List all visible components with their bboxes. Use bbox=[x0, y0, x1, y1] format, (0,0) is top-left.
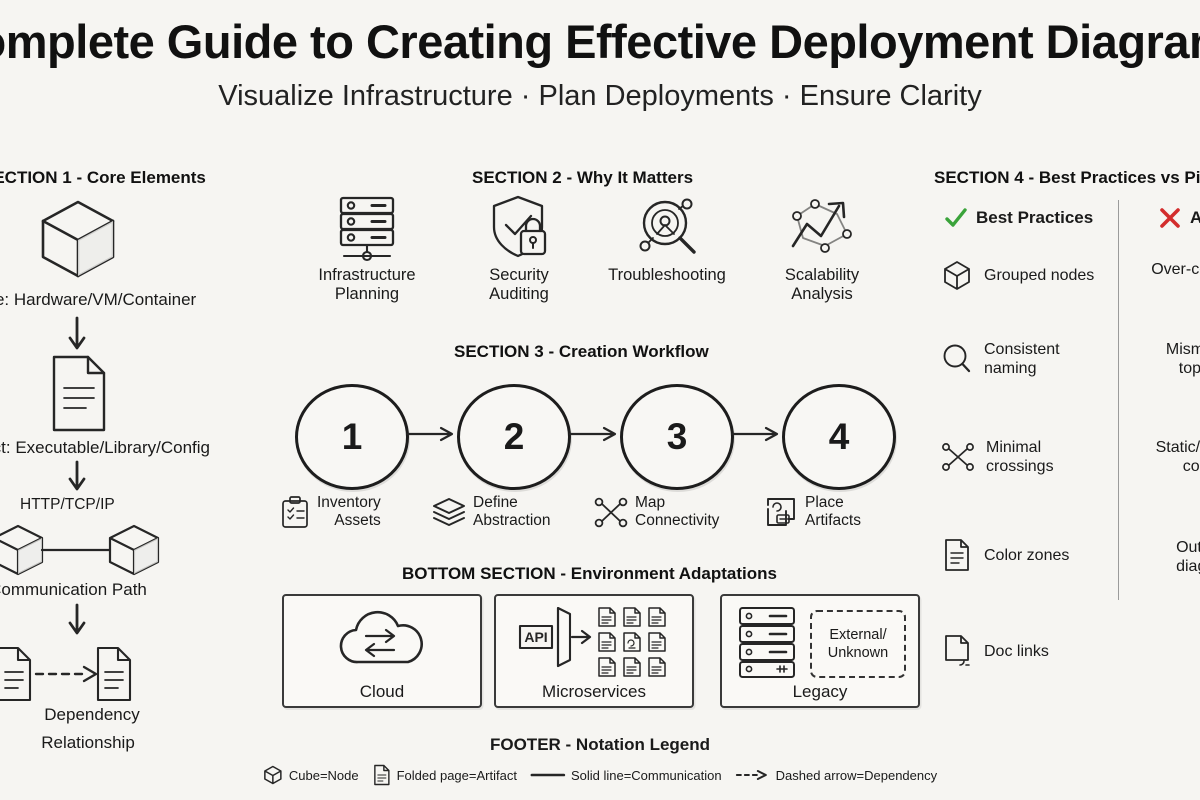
ap-label-line1: Mismatched bbox=[1134, 340, 1200, 359]
section4-divider bbox=[1118, 200, 1119, 600]
ap-label-line1: Outdated bbox=[1134, 538, 1200, 557]
server-rack-icon bbox=[292, 194, 442, 262]
cube-icon bbox=[263, 765, 283, 785]
external-unknown-line2: Unknown bbox=[828, 644, 888, 662]
step-caption-line1: Place bbox=[805, 494, 861, 512]
dependency-label-line2: Relationship bbox=[0, 733, 198, 753]
section2-heading: SECTION 2 - Why It Matters bbox=[472, 168, 693, 188]
anti-patterns-title: Anti-Patterns bbox=[1190, 208, 1200, 228]
arrow-down-3-icon bbox=[62, 602, 92, 642]
why-label-line1: Troubleshooting bbox=[592, 266, 742, 285]
env-card-cloud[interactable]: Cloud bbox=[282, 594, 482, 708]
external-unknown-box: External/ Unknown bbox=[810, 610, 906, 678]
step-caption-line1: Inventory bbox=[317, 494, 381, 512]
arrow-down-1-icon bbox=[62, 315, 92, 355]
why-label-line1: Security bbox=[444, 266, 594, 285]
center-column: SECTION 2 - Why It Matters Infrastructur… bbox=[272, 160, 932, 760]
folded-page-icon bbox=[373, 764, 391, 786]
place-artifact-icon bbox=[764, 495, 798, 529]
bp-label-line2: naming bbox=[984, 359, 1060, 378]
ap-label-line1: Over-complexity bbox=[1134, 260, 1200, 279]
two-cubes-link-icon bbox=[0, 518, 176, 580]
page-title: Complete Guide to Creating Effective Dep… bbox=[0, 14, 1200, 69]
microservice-artifacts-grid bbox=[596, 606, 668, 678]
bp-row-minimal-crossings: Minimal crossings bbox=[942, 438, 1054, 476]
ap-row-static-outdated-content: Static/outdated content bbox=[1134, 438, 1200, 476]
step-caption-3: Map Connectivity bbox=[594, 494, 719, 530]
bp-label-line1: Minimal bbox=[986, 438, 1054, 457]
why-label-line1: Infrastructure bbox=[292, 266, 442, 285]
doc-link-icon bbox=[942, 634, 972, 668]
step-caption-line2: Artifacts bbox=[805, 512, 861, 530]
env-card-label: Legacy bbox=[722, 682, 918, 702]
bp-label: Doc links bbox=[984, 642, 1049, 661]
why-item-infrastructure-planning: Infrastructure Planning bbox=[292, 194, 442, 304]
ap-label-line2: diagrams bbox=[1134, 557, 1200, 576]
bp-row-grouped-nodes: Grouped nodes bbox=[942, 260, 1094, 290]
solid-line-icon bbox=[531, 770, 565, 780]
legend-item-dashed-arrow: Dashed arrow=Dependency bbox=[736, 768, 938, 783]
section4-best-practices-vs-pitfalls: Best Practices Anti-Patterns Grouped nod… bbox=[930, 160, 1200, 720]
legend-item-folded-page: Folded page=Artifact bbox=[373, 764, 517, 786]
section3-heading: SECTION 3 - Creation Workflow bbox=[454, 342, 709, 362]
step-caption-line2: Assets bbox=[317, 512, 381, 530]
step-caption-2: Define Abstraction bbox=[432, 494, 551, 530]
step-caption-1: Inventory Assets bbox=[280, 494, 381, 530]
legacy-server-icon bbox=[736, 606, 800, 678]
check-icon bbox=[944, 206, 968, 230]
folded-page-icon bbox=[44, 352, 114, 436]
step-circle-1[interactable]: 1 bbox=[295, 384, 409, 490]
step-caption-4: Place Artifacts bbox=[764, 494, 861, 530]
legend-text: Solid line=Communication bbox=[571, 768, 722, 783]
step-circle-2[interactable]: 2 bbox=[457, 384, 571, 490]
legend-item-solid-line: Solid line=Communication bbox=[531, 768, 722, 783]
growth-chart-icon bbox=[747, 194, 897, 262]
document-icon bbox=[942, 538, 972, 572]
cloud-sync-icon bbox=[330, 604, 434, 670]
step-arrow-1-icon bbox=[405, 424, 459, 444]
two-pages-dashed-arrow-icon bbox=[0, 642, 172, 706]
bp-row-consistent-naming: Consistent naming bbox=[942, 340, 1060, 378]
bp-row-doc-links: Doc links bbox=[942, 634, 1049, 668]
api-gateway-icon: API bbox=[502, 604, 594, 670]
shield-lock-icon bbox=[444, 194, 594, 262]
node-graph-icon bbox=[594, 495, 628, 529]
step-circle-4[interactable]: 4 bbox=[782, 384, 896, 490]
env-card-microservices[interactable]: API Microservices bbox=[494, 594, 694, 708]
legend-item-cube: Cube=Node bbox=[263, 765, 359, 785]
step-caption-line2: Abstraction bbox=[473, 512, 551, 530]
footer-heading: FOOTER - Notation Legend bbox=[490, 735, 710, 755]
clipboard-check-icon bbox=[280, 495, 310, 529]
env-card-label: Microservices bbox=[496, 682, 692, 702]
communication-path-label: Communication Path bbox=[0, 580, 188, 600]
cube-icon bbox=[942, 260, 972, 290]
ap-label-line1: Static/outdated bbox=[1134, 438, 1200, 457]
ap-row-mismatched-topology: Mismatched topology bbox=[1134, 340, 1200, 378]
node-label: Node: Hardware/VM/Container bbox=[0, 290, 210, 310]
node-graph-icon bbox=[942, 442, 974, 472]
best-practices-header: Best Practices bbox=[944, 206, 1093, 230]
dependency-label-line1: Dependency bbox=[0, 705, 192, 725]
dashed-arrow-icon bbox=[736, 769, 770, 781]
env-card-label: Cloud bbox=[284, 682, 480, 702]
step-arrow-3-icon bbox=[730, 424, 784, 444]
layers-icon bbox=[432, 495, 466, 529]
bottom-section-heading: BOTTOM SECTION - Environment Adaptations bbox=[402, 564, 777, 584]
why-label-line2: Analysis bbox=[747, 285, 897, 304]
notation-legend: Cube=Node Folded page=Artifact Solid lin… bbox=[263, 764, 937, 786]
why-item-troubleshooting: Troubleshooting bbox=[592, 194, 742, 285]
ap-label-line2: content bbox=[1134, 457, 1200, 476]
communication-protocol-label: HTTP/TCP/IP bbox=[20, 496, 115, 514]
step-caption-line1: Map bbox=[635, 494, 719, 512]
why-label-line2: Planning bbox=[292, 285, 442, 304]
step-arrow-2-icon bbox=[568, 424, 622, 444]
legend-text: Folded page=Artifact bbox=[397, 768, 517, 783]
magnifier-network-icon bbox=[592, 194, 742, 262]
arrow-down-2-icon bbox=[62, 460, 92, 496]
bp-label-line2: crossings bbox=[986, 457, 1054, 476]
page-subtitle: Visualize Infrastructure · Plan Deployme… bbox=[218, 80, 981, 113]
legend-text: Dashed arrow=Dependency bbox=[776, 768, 938, 783]
bp-row-color-zones: Color zones bbox=[942, 538, 1069, 572]
artifact-label: Artifact: Executable/Library/Config bbox=[0, 438, 219, 458]
why-item-scalability-analysis: Scalability Analysis bbox=[747, 194, 897, 304]
why-label-line1: Scalability bbox=[747, 266, 897, 285]
magnifier-icon bbox=[942, 343, 972, 375]
bp-label: Grouped nodes bbox=[984, 266, 1094, 285]
best-practices-title: Best Practices bbox=[976, 208, 1093, 228]
env-card-legacy[interactable]: External/ Unknown Legacy bbox=[720, 594, 920, 708]
step-circle-3[interactable]: 3 bbox=[620, 384, 734, 490]
why-label-line2: Auditing bbox=[444, 285, 594, 304]
bp-label-line1: Consistent bbox=[984, 340, 1060, 359]
anti-patterns-header: Anti-Patterns bbox=[1158, 206, 1200, 230]
infographic-canvas: Complete Guide to Creating Effective Dep… bbox=[0, 0, 1200, 800]
cross-icon bbox=[1158, 206, 1182, 230]
step-caption-line2: Connectivity bbox=[635, 512, 719, 530]
ap-row-over-complexity: Over-complexity bbox=[1134, 260, 1200, 279]
legend-text: Cube=Node bbox=[289, 768, 359, 783]
step-caption-line1: Define bbox=[473, 494, 551, 512]
svg-text:API: API bbox=[524, 629, 547, 645]
external-unknown-line1: External/ bbox=[829, 626, 886, 644]
cube-icon bbox=[35, 195, 121, 281]
bp-label: Color zones bbox=[984, 546, 1069, 565]
why-item-security-auditing: Security Auditing bbox=[444, 194, 594, 304]
ap-label-line2: topology bbox=[1134, 359, 1200, 378]
section1-core-elements: Node: Hardware/VM/Container Artifact: Ex… bbox=[0, 160, 255, 740]
ap-row-outdated-diagrams: Outdated diagrams bbox=[1134, 538, 1200, 576]
